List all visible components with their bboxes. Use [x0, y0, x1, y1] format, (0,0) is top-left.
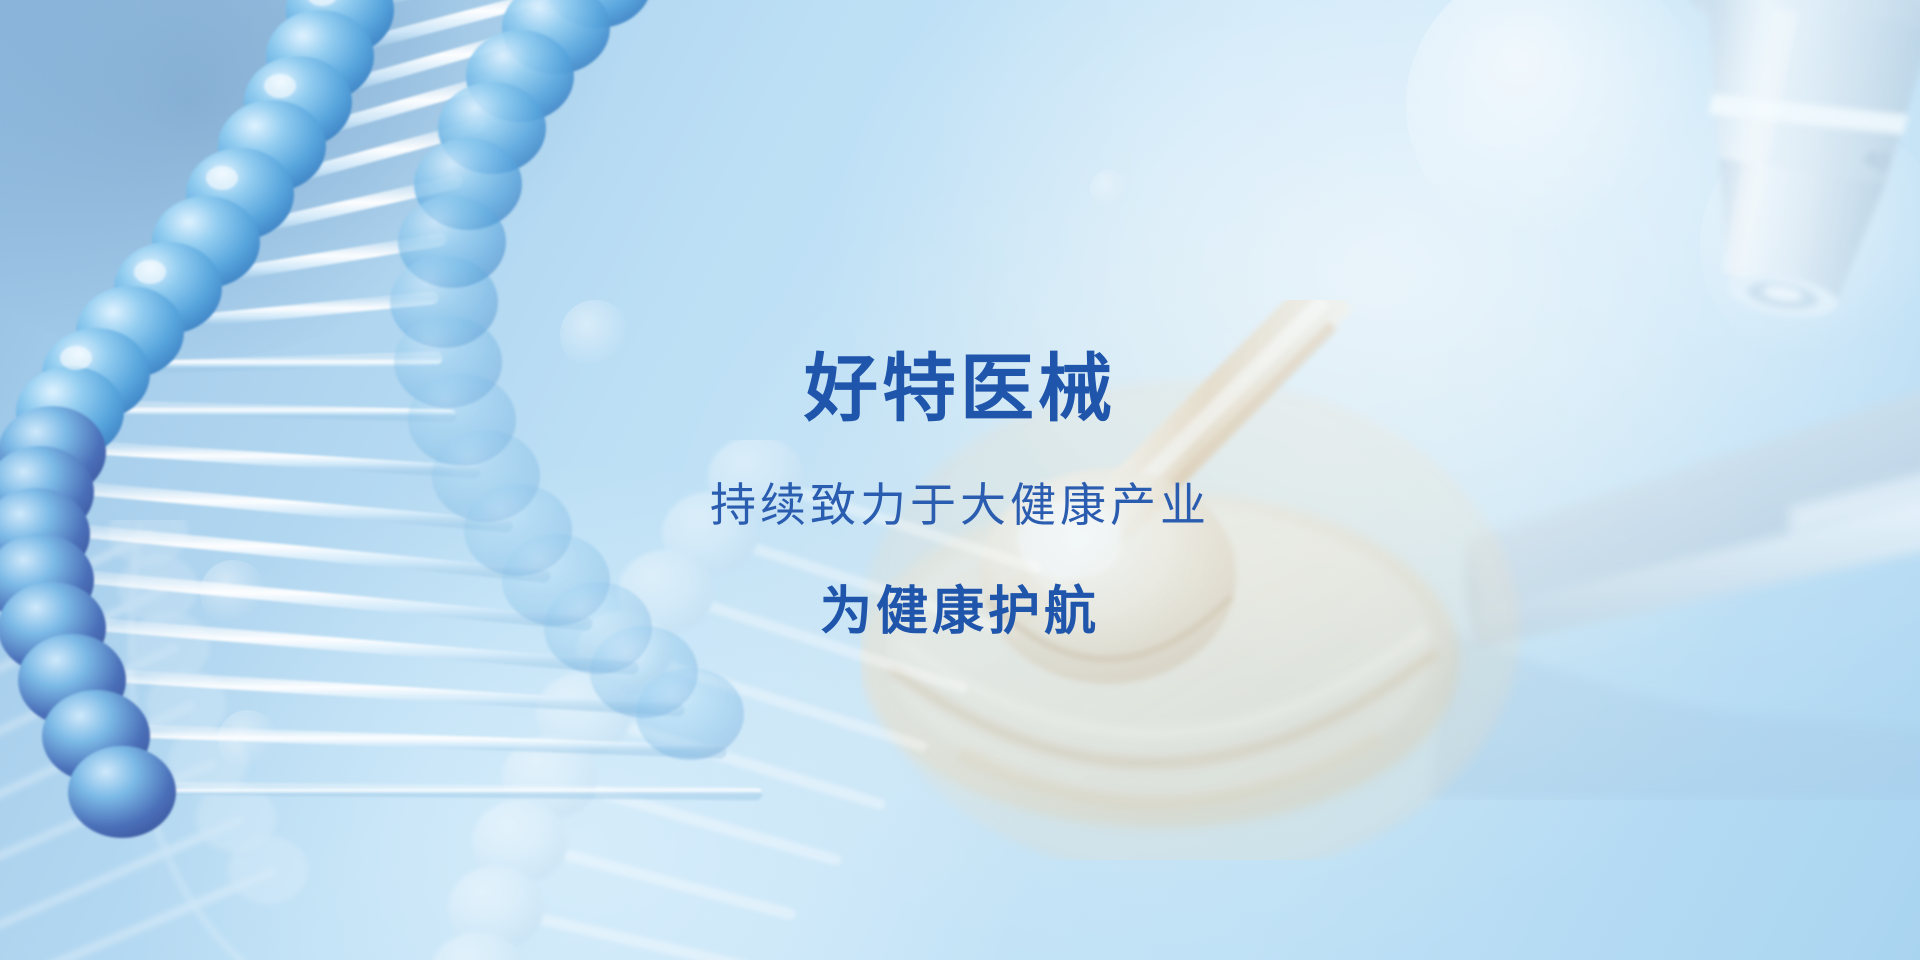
- hero-banner: 40: [0, 0, 1920, 960]
- background-bokeh: [1406, 0, 1706, 250]
- background-bokeh: [218, 710, 278, 770]
- background-blur-blob: [120, 0, 640, 260]
- background-bokeh: [470, 120, 516, 166]
- background-bokeh: [1090, 170, 1128, 208]
- microscope-objective-lens: 40: [1606, 0, 1920, 390]
- svg-text:40: 40: [1861, 144, 1892, 176]
- hero-subtitle: 持续致力于大健康产业: [0, 482, 1920, 528]
- background-bokeh: [1700, 120, 1920, 370]
- page-title: 好特医械: [0, 352, 1920, 426]
- hero-tagline: 为健康护航: [0, 586, 1920, 638]
- hero-text-block: 好特医械 持续致力于大健康产业 为健康护航: [0, 352, 1920, 638]
- background-blur-blob: [0, 0, 500, 360]
